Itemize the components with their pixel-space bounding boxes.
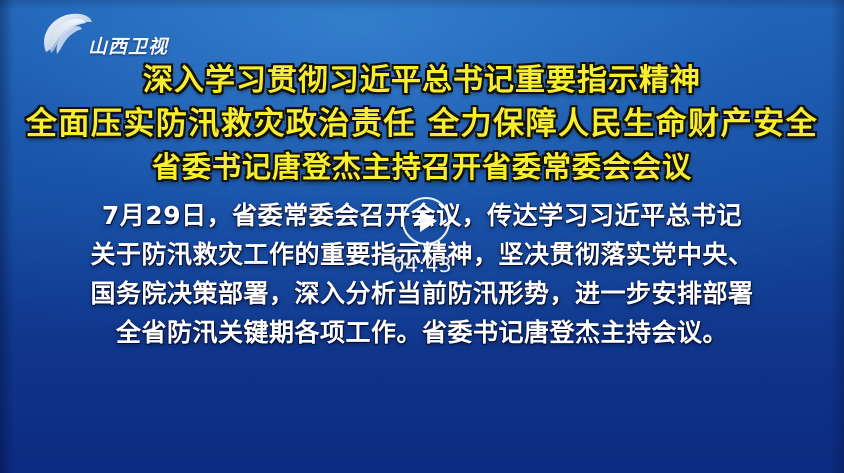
channel-wordmark: 山西卫视 (88, 32, 168, 59)
play-triangle-icon (420, 210, 437, 232)
video-timestamp: 04:43 (0, 253, 844, 277)
play-button[interactable] (402, 197, 450, 245)
headline-line-2: 全面压实防汛救灾政治责任 全力保障人民生命财产安全 (0, 109, 844, 140)
headline-line-1: 深入学习贯彻习近平总书记重要指示精神 (0, 66, 844, 96)
headline-line-3: 省委书记唐登杰主持召开省委常委会会议 (0, 153, 844, 182)
shanxi-tv-swoosh-icon (38, 12, 94, 58)
body-line: 国务院决策部署，深入分析当前防汛形势，进一步安排部署 (82, 281, 762, 306)
channel-logo: 山西卫视 (38, 12, 180, 60)
headline-block: 深入学习贯彻习近平总书记重要指示精神 全面压实防汛救灾政治责任 全力保障人民生命… (0, 66, 844, 182)
body-line: 全省防汛关键期各项工作。省委书记唐登杰主持会议。 (82, 320, 762, 345)
video-frame: 山西卫视 深入学习贯彻习近平总书记重要指示精神 全面压实防汛救灾政治责任 全力保… (0, 0, 844, 473)
